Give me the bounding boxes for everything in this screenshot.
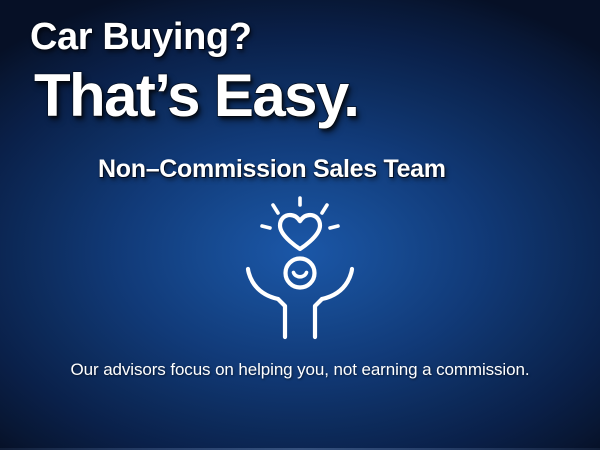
- ray-right: [330, 226, 338, 228]
- arm-right-icon: [322, 269, 352, 299]
- headline-subtitle: Non–Commission Sales Team: [98, 157, 446, 182]
- person-with-heart-svg: [240, 196, 360, 341]
- leg-left-icon: [278, 299, 285, 337]
- leg-right-icon: [315, 299, 322, 337]
- tagline-text: Our advisors focus on helping you, not e…: [0, 360, 600, 380]
- ray-upper-right: [322, 205, 327, 213]
- arm-left-icon: [248, 269, 278, 299]
- headline-emphasis: That’s Easy.: [34, 66, 358, 126]
- heart-outline-icon: [280, 215, 320, 249]
- head-circle-icon: [286, 259, 315, 288]
- smile-icon: [294, 273, 307, 277]
- radiating-rays-icon: [262, 198, 338, 228]
- person-with-heart-icon: [240, 196, 360, 341]
- headline-primary: Car Buying?: [30, 18, 252, 56]
- ray-upper-left: [273, 205, 278, 213]
- promo-banner: Car Buying? That’s Easy. Non–Commission …: [0, 0, 600, 450]
- ray-left: [262, 226, 270, 228]
